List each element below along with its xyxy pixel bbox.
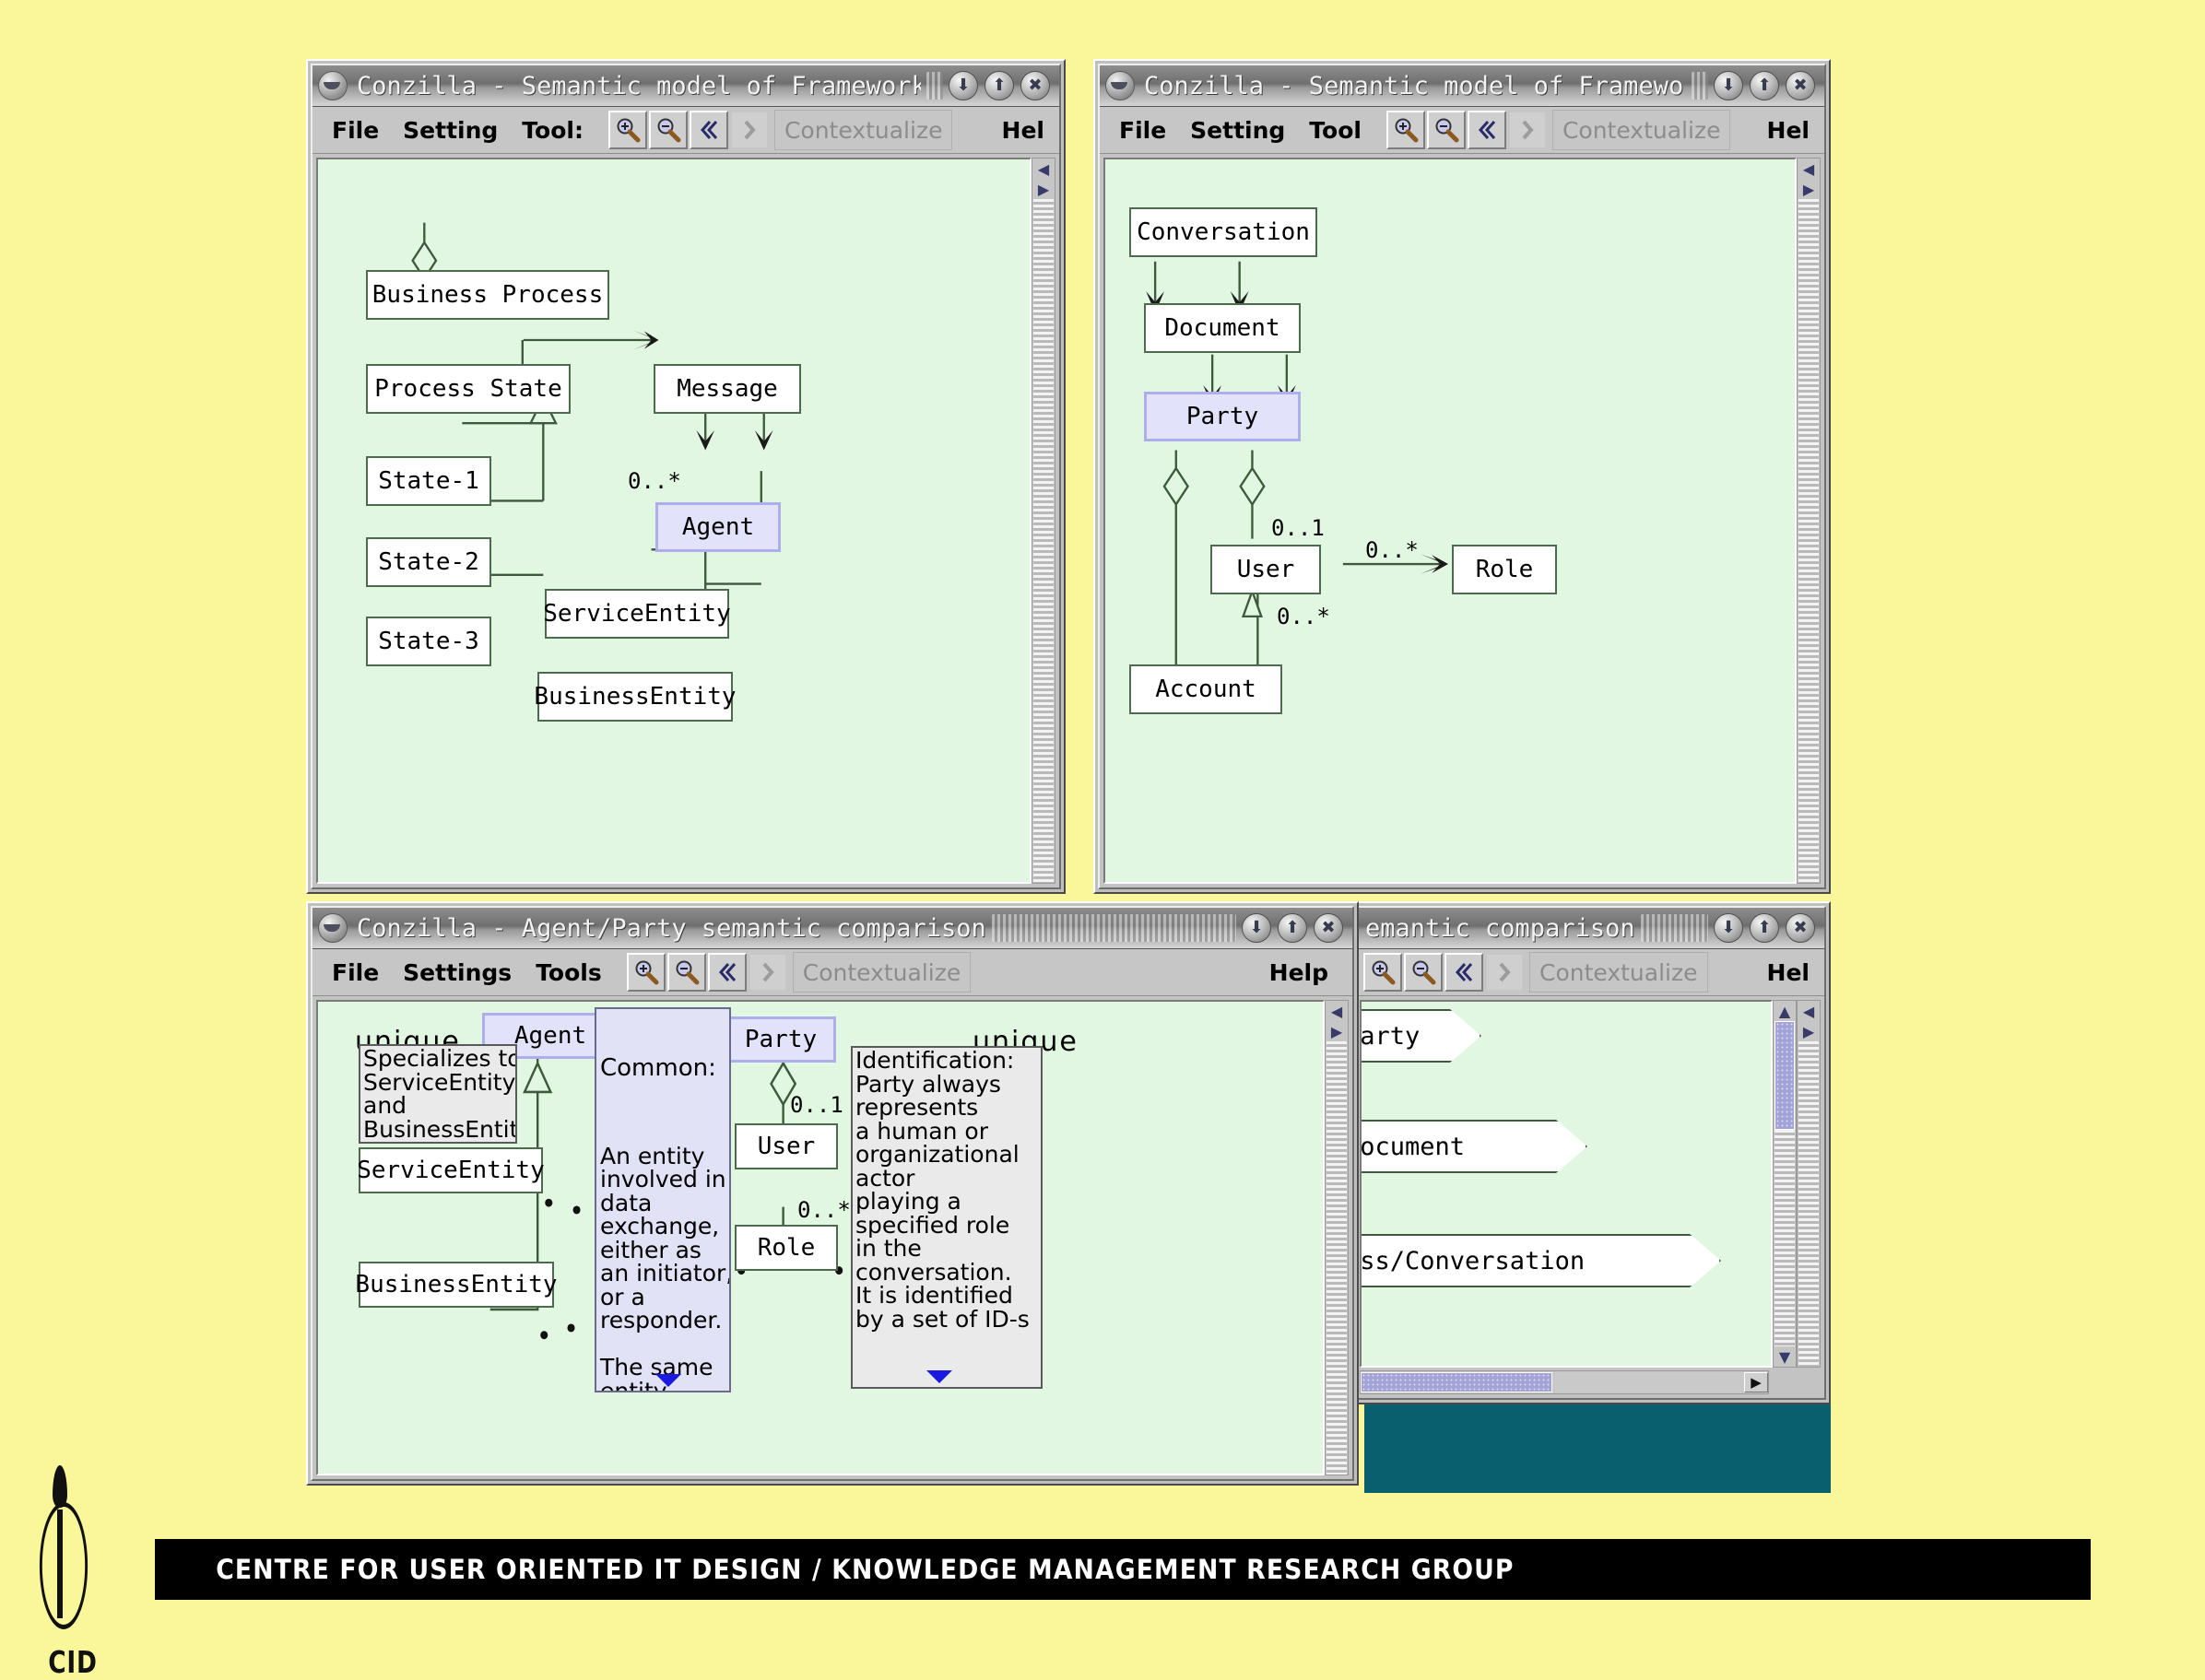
node-business-process[interactable]: Business Process xyxy=(366,270,609,320)
minimize-icon[interactable]: ⬇ xyxy=(1714,913,1743,943)
titlebar-framework1[interactable]: Conzilla - Semantic model of Framework-1… xyxy=(312,65,1059,107)
scroll-track[interactable] xyxy=(1033,199,1054,883)
menu-tools[interactable]: Tool: xyxy=(510,117,595,144)
node-document-chevron[interactable]: Document xyxy=(1360,1120,1587,1173)
menu-file[interactable]: File xyxy=(320,117,391,144)
multiplicity-label: 0..* xyxy=(797,1197,851,1223)
vertical-scroll-thumb[interactable] xyxy=(1775,1021,1795,1130)
cid-logo-lens xyxy=(40,1502,88,1629)
window-title: emantic comparison xyxy=(1365,914,1635,943)
multiplicity-label: 0..1 xyxy=(790,1092,843,1118)
titlebar-grip xyxy=(1641,914,1708,942)
titlebar-comparison2[interactable]: emantic comparison ⬇ ⬆ ✖ xyxy=(1356,908,1824,949)
scroll-track[interactable] xyxy=(1775,1130,1795,1346)
cid-logo-mark xyxy=(22,1486,98,1624)
horizontal-scrollbar-comparison2[interactable]: ▶ xyxy=(1360,1370,1769,1394)
node-business-entity[interactable]: BusinessEntity xyxy=(537,672,733,722)
node-agent[interactable]: Agent xyxy=(655,502,781,552)
zoom-in-icon[interactable] xyxy=(1386,111,1425,149)
common-note-more-icon[interactable] xyxy=(655,1374,681,1387)
node-party-chevron[interactable]: Party xyxy=(1360,1009,1481,1063)
back-icon[interactable] xyxy=(708,953,747,992)
cid-logo: CID xyxy=(22,1486,124,1642)
horizontal-scroll-thumb[interactable] xyxy=(1361,1372,1552,1392)
menubar-comparison[interactable]: File Settings Tools Contextualize Hel xyxy=(312,949,1352,996)
common-note-body: An entity involved in data exchange, eit… xyxy=(600,1145,725,1392)
contextualize-button[interactable]: Contextualize xyxy=(1529,952,1708,993)
node-role[interactable]: Role xyxy=(735,1225,838,1271)
window-menu-icon[interactable] xyxy=(318,71,348,100)
maximize-icon[interactable]: ⬆ xyxy=(985,71,1014,100)
close-icon[interactable]: ✖ xyxy=(1314,913,1343,943)
scroll-down-icon[interactable]: ▶ xyxy=(1033,179,1054,199)
zoom-in-icon[interactable] xyxy=(608,111,647,149)
window-title: Conzilla - Agent/Party semantic comparis… xyxy=(357,914,986,943)
node-service-entity[interactable]: ServiceEntity xyxy=(359,1147,543,1193)
menubar-framework1[interactable]: File Setting Tool: Contextualize Hel xyxy=(312,107,1059,154)
node-service-entity[interactable]: ServiceEntity xyxy=(545,589,729,639)
scroll-up-icon[interactable]: ◀ xyxy=(1798,1001,1819,1021)
close-icon[interactable]: ✖ xyxy=(1786,913,1815,943)
scroll-track[interactable] xyxy=(1798,199,1819,883)
forward-icon xyxy=(730,111,769,149)
menu-file[interactable]: File xyxy=(320,959,391,986)
node-conversation[interactable]: Conversation xyxy=(1129,207,1317,257)
scroll-up-icon[interactable]: ◀ xyxy=(1033,159,1054,179)
menu-file[interactable]: File xyxy=(1107,117,1178,144)
diagram-canvas-comparison2[interactable]: Party Document ess/Conversation xyxy=(1360,1000,1773,1368)
zoom-out-icon[interactable] xyxy=(667,953,706,992)
node-document[interactable]: Document xyxy=(1144,303,1301,353)
node-state-2[interactable]: State-2 xyxy=(366,537,491,587)
node-user[interactable]: User xyxy=(1210,545,1321,594)
titlebar-grip xyxy=(992,914,1236,942)
node-state-3[interactable]: State-3 xyxy=(366,617,491,666)
menu-settings[interactable]: Setting xyxy=(391,117,510,144)
cid-logo-drop xyxy=(53,1465,67,1508)
forward-icon xyxy=(1485,953,1524,992)
scroll-right-icon[interactable]: ▶ xyxy=(1744,1372,1768,1392)
window-menu-icon[interactable] xyxy=(1105,71,1135,100)
node-business-entity[interactable]: BusinessEntity xyxy=(359,1262,554,1308)
scroll-up-arrow-icon[interactable]: ▲ xyxy=(1775,1001,1795,1021)
scroll-down-arrow-icon[interactable]: ▼ xyxy=(1775,1346,1795,1367)
vertical-scrollbar-comparison[interactable]: ◀ ▶ xyxy=(1325,1000,1349,1475)
zoom-in-icon[interactable] xyxy=(1363,953,1402,992)
common-note: Common: An entity involved in data excha… xyxy=(595,1007,731,1392)
window-framework2[interactable]: Conzilla - Semantic model of Framework- … xyxy=(1093,59,1831,894)
scroll-down-icon[interactable]: ▶ xyxy=(1798,179,1819,199)
maximize-icon[interactable]: ⬆ xyxy=(1278,913,1307,943)
left-unique-note: Specializes to ServiceEntity and Busines… xyxy=(359,1044,517,1144)
scroll-track[interactable] xyxy=(1327,1041,1347,1474)
common-note-title: Common: xyxy=(600,1056,725,1081)
node-account[interactable]: Account xyxy=(1129,664,1282,714)
contextualize-button[interactable]: Contextualize xyxy=(774,110,953,150)
multiplicity-label: 0..* xyxy=(1365,537,1419,563)
maximize-icon[interactable]: ⬆ xyxy=(1750,71,1779,100)
right-note-more-icon[interactable] xyxy=(926,1370,952,1383)
window-comparison2[interactable]: emantic comparison ⬇ ⬆ ✖ xyxy=(1350,901,1831,1404)
back-icon[interactable] xyxy=(690,111,728,149)
node-process-state[interactable]: Process State xyxy=(366,364,571,414)
multiplicity-label: 0..* xyxy=(1277,604,1330,629)
contextualize-button[interactable]: Contextualize xyxy=(793,952,972,993)
minimize-icon[interactable]: ⬇ xyxy=(1714,71,1743,100)
window-title: Conzilla - Semantic model of Framework-1 xyxy=(357,72,921,100)
menu-help[interactable]: Hel xyxy=(1760,959,1817,986)
cid-logo-word: CID xyxy=(32,1644,113,1680)
forward-icon xyxy=(749,953,787,992)
desktop-teal-panel xyxy=(1364,1401,1831,1493)
zoom-out-icon[interactable] xyxy=(1427,111,1466,149)
scroll-down-icon[interactable]: ▶ xyxy=(1327,1021,1347,1041)
node-role[interactable]: Role xyxy=(1452,545,1557,594)
zoom-out-icon[interactable] xyxy=(649,111,688,149)
scroll-up-icon[interactable]: ◀ xyxy=(1327,1001,1347,1021)
node-user[interactable]: User xyxy=(735,1123,838,1169)
node-party[interactable]: Party xyxy=(725,1016,836,1063)
close-icon[interactable]: ✖ xyxy=(1786,71,1815,100)
window-framework1[interactable]: Conzilla - Semantic model of Framework-1… xyxy=(306,59,1066,894)
menu-tools[interactable]: Tools xyxy=(524,959,614,986)
maximize-icon[interactable]: ⬆ xyxy=(1750,913,1779,943)
window-comparison[interactable]: Conzilla - Agent/Party semantic comparis… xyxy=(306,901,1359,1486)
scroll-up-icon[interactable]: ◀ xyxy=(1798,159,1819,179)
diagram-canvas-comparison[interactable]: unique unique Agent Party Specializes to… xyxy=(316,1000,1325,1475)
titlebar-comparison[interactable]: Conzilla - Agent/Party semantic comparis… xyxy=(312,908,1352,949)
node-message[interactable]: Message xyxy=(654,364,801,414)
zoom-in-icon[interactable] xyxy=(627,953,666,992)
titlebar-grip xyxy=(926,72,943,100)
diagram-canvas-framework2[interactable]: Conversation Document Party User Role Ac… xyxy=(1103,158,1797,884)
vertical-scrollbar-comparison2[interactable]: ▲ ▼ xyxy=(1773,1000,1797,1368)
node-conversation-chevron[interactable]: ess/Conversation xyxy=(1360,1234,1721,1287)
diagram-canvas-framework1[interactable]: Business Process Process State Message S… xyxy=(316,158,1032,884)
window-title: Conzilla - Semantic model of Framework- xyxy=(1144,72,1686,100)
menu-help[interactable]: Help xyxy=(1262,959,1345,986)
titlebar-framework2[interactable]: Conzilla - Semantic model of Framework- … xyxy=(1100,65,1824,107)
vertical-scrollbar-framework2[interactable]: ◀ ▶ xyxy=(1797,158,1821,884)
zoom-out-icon[interactable] xyxy=(1404,953,1443,992)
vertical-scrollbar-framework1[interactable]: ◀ ▶ xyxy=(1032,158,1055,884)
scroll-down-icon[interactable]: ▶ xyxy=(1798,1021,1819,1041)
multiplicity-label: 0..1 xyxy=(1271,515,1325,541)
contextualize-button[interactable]: Contextualize xyxy=(1552,110,1731,150)
menu-tools[interactable]: Tool xyxy=(1297,117,1374,144)
back-icon[interactable] xyxy=(1468,111,1506,149)
scroll-track[interactable] xyxy=(1798,1041,1819,1367)
minimize-icon[interactable]: ⬇ xyxy=(949,71,978,100)
node-party[interactable]: Party xyxy=(1144,392,1301,441)
scroll-track[interactable] xyxy=(1552,1372,1744,1392)
footer-banner-text: CENTRE FOR USER ORIENTED IT DESIGN / KNO… xyxy=(155,1554,1515,1585)
back-icon[interactable] xyxy=(1444,953,1483,992)
titlebar-grip xyxy=(1692,72,1708,100)
multiplicity-label: 0..* xyxy=(628,468,681,494)
window-menu-icon[interactable] xyxy=(318,913,348,943)
footer-banner: CENTRE FOR USER ORIENTED IT DESIGN / KNO… xyxy=(155,1539,2091,1600)
menu-help[interactable]: Hel xyxy=(995,117,1052,144)
menu-settings[interactable]: Settings xyxy=(391,959,524,986)
minimize-icon[interactable]: ⬇ xyxy=(1242,913,1271,943)
menubar-comparison2[interactable]: Contextualize Hel xyxy=(1356,949,1824,996)
menubar-framework2[interactable]: File Setting Tool Contextualize Hel xyxy=(1100,107,1824,154)
forward-icon xyxy=(1508,111,1547,149)
cid-logo-bar xyxy=(57,1510,63,1618)
close-icon[interactable]: ✖ xyxy=(1020,71,1050,100)
menu-help[interactable]: Hel xyxy=(1760,117,1817,144)
vertical-scrollbar-outer-comparison2[interactable]: ◀ ▶ xyxy=(1797,1000,1821,1368)
menu-settings[interactable]: Setting xyxy=(1178,117,1297,144)
right-unique-note: Identification: Party always represents … xyxy=(851,1046,1043,1389)
node-state-1[interactable]: State-1 xyxy=(366,456,491,506)
